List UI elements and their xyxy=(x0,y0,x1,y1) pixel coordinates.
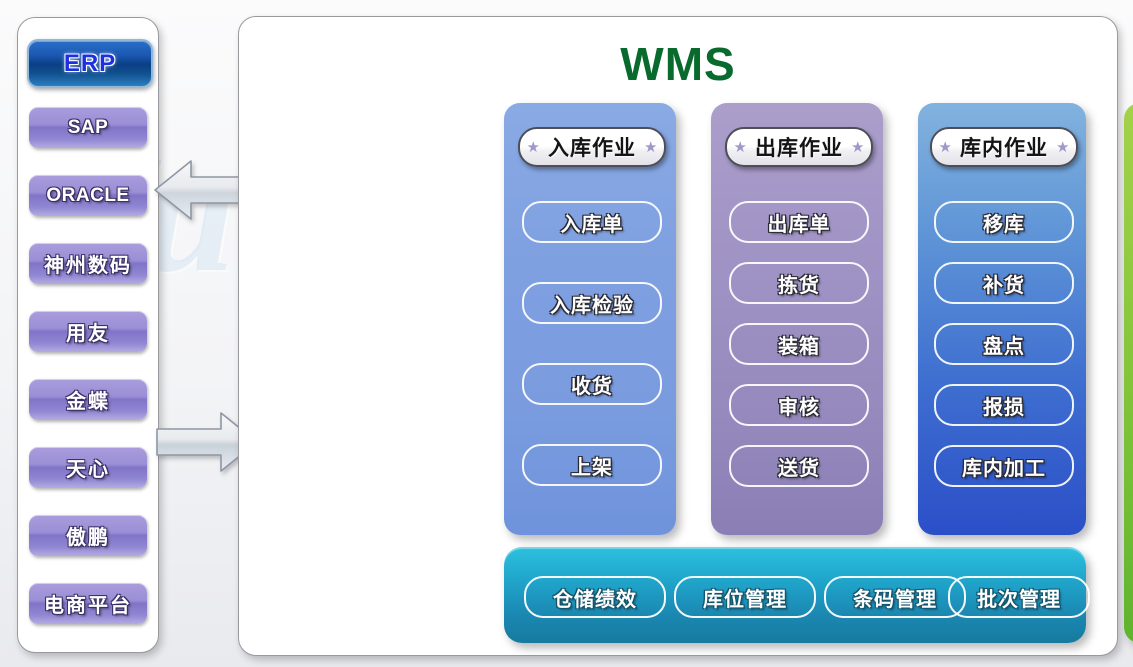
module-internal-item-value-added[interactable]: 库内加工 xyxy=(934,445,1074,487)
module-outbound[interactable]: ★ 出库作业 ★ 出库单 拣货 装箱 审核 送货 xyxy=(711,103,883,535)
module-inbound-item-putaway[interactable]: 上架 xyxy=(522,444,662,486)
star-icon: ★ xyxy=(527,140,540,155)
module-internal-item-damage-report[interactable]: 报损 xyxy=(934,384,1074,426)
foundation-item-warehouse-performance[interactable]: 仓储绩效 xyxy=(524,576,666,618)
module-inbound-item-goods-receipt[interactable]: 收货 xyxy=(522,363,662,405)
module-internal-item-replenishment[interactable]: 补货 xyxy=(934,262,1074,304)
foundation-bar: 仓储绩效 库位管理 条码管理 批次管理 xyxy=(504,547,1086,643)
diagram-canvas: Ku ck Ku ck ERP SAP ORACLE 神州数码 用友 金蝶 天心… xyxy=(0,0,1133,667)
module-outbound-item-shipping[interactable]: 送货 xyxy=(729,445,869,487)
module-outbound-item-delivery-order[interactable]: 出库单 xyxy=(729,201,869,243)
page-title: WMS xyxy=(239,37,1117,91)
module-outbound-item-picking[interactable]: 拣货 xyxy=(729,262,869,304)
module-outbound-title: 出库作业 xyxy=(755,132,843,162)
erp-item-ecommerce[interactable]: 电商平台 xyxy=(29,583,147,624)
wms-panel: WMS ★ 入库作业 ★ 入库单 入库检验 收货 上架 ★ 出库作业 ★ 出库单… xyxy=(238,16,1118,656)
foundation-item-barcode-management[interactable]: 条码管理 xyxy=(824,576,966,618)
erp-item-erp[interactable]: ERP xyxy=(27,39,153,88)
erp-item-tianxin[interactable]: 天心 xyxy=(29,447,147,488)
module-outbound-item-review[interactable]: 审核 xyxy=(729,384,869,426)
module-report[interactable]: ★ 报表看板 ★ 库存状态表 库存进出明细 库位变动查询 库存交易报表 库存理化… xyxy=(1124,103,1133,643)
module-internal-header: ★ 库内作业 ★ xyxy=(930,127,1078,167)
module-internal-title: 库内作业 xyxy=(960,132,1048,162)
module-inbound-header: ★ 入库作业 ★ xyxy=(518,127,666,167)
module-outbound-header: ★ 出库作业 ★ xyxy=(725,127,873,167)
star-icon: ★ xyxy=(734,140,747,155)
erp-item-sap[interactable]: SAP xyxy=(29,107,147,148)
module-internal-item-stocktake[interactable]: 盘点 xyxy=(934,323,1074,365)
erp-sidebar-panel: ERP SAP ORACLE 神州数码 用友 金蝶 天心 傲鹏 电商平台 xyxy=(17,17,159,653)
foundation-item-batch-management[interactable]: 批次管理 xyxy=(948,576,1090,618)
erp-item-aopeng[interactable]: 傲鹏 xyxy=(29,515,147,556)
module-internal[interactable]: ★ 库内作业 ★ 移库 补货 盘点 报损 库内加工 xyxy=(918,103,1086,535)
star-icon: ★ xyxy=(1056,140,1069,155)
star-icon: ★ xyxy=(644,140,657,155)
module-inbound-item-receipt-order[interactable]: 入库单 xyxy=(522,201,662,243)
module-inbound-title: 入库作业 xyxy=(548,132,636,162)
erp-item-oracle[interactable]: ORACLE xyxy=(29,175,147,216)
foundation-item-location-management[interactable]: 库位管理 xyxy=(674,576,816,618)
module-outbound-item-packing[interactable]: 装箱 xyxy=(729,323,869,365)
erp-item-kingdee[interactable]: 金蝶 xyxy=(29,379,147,420)
module-inbound[interactable]: ★ 入库作业 ★ 入库单 入库检验 收货 上架 xyxy=(504,103,676,535)
star-icon: ★ xyxy=(939,140,952,155)
erp-item-yonyou[interactable]: 用友 xyxy=(29,311,147,352)
erp-item-digital-china[interactable]: 神州数码 xyxy=(29,243,147,284)
module-internal-item-transfer[interactable]: 移库 xyxy=(934,201,1074,243)
star-icon: ★ xyxy=(851,140,864,155)
module-inbound-item-inspection[interactable]: 入库检验 xyxy=(522,282,662,324)
